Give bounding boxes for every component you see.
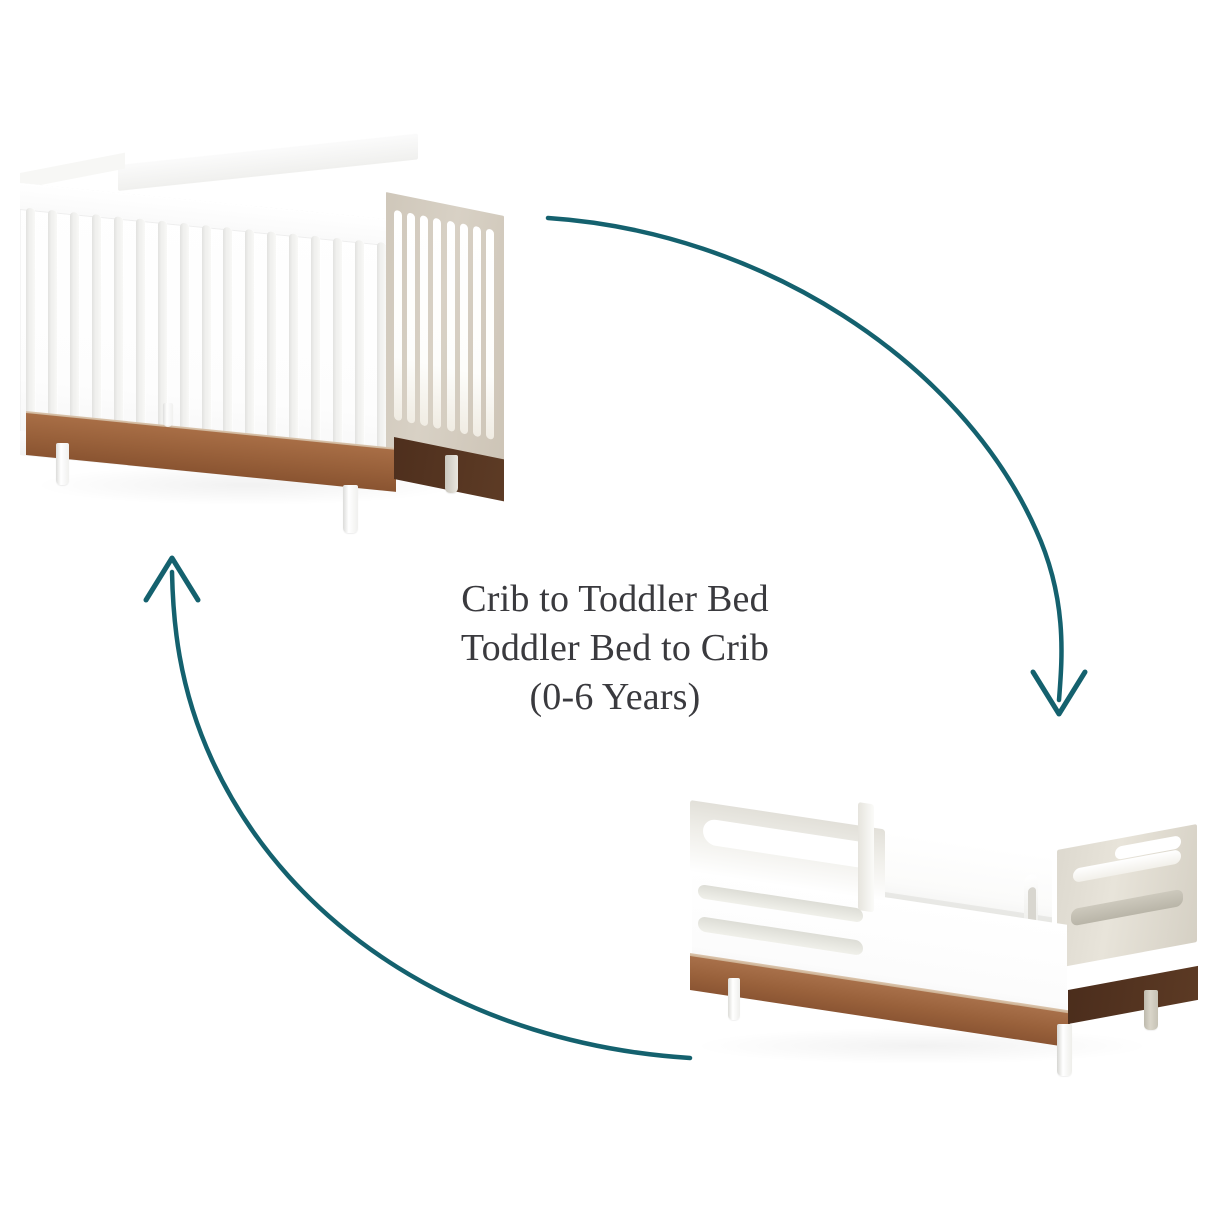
bed-wood-base-end [1068,966,1198,1024]
crib-end-slat [394,210,402,422]
crib-end-slat [473,226,481,438]
crib-leg-back-left [163,403,173,427]
crib-slat-gap [114,216,123,441]
crib-slat-gap [136,218,145,443]
caption-line-3: (0-6 Years) [330,673,900,722]
bed-end-panel [1057,824,1197,968]
crib-leg-front-right [343,485,358,533]
crib-slat-gap [26,208,35,433]
crib-slat-gap [245,229,254,454]
crib-end-panel [386,192,504,474]
crib-end-slat [486,228,494,440]
conversion-graphic: Crib to Toddler Bed Toddler Bed to Crib … [0,0,1221,1221]
crib-slat-gap [223,227,232,452]
crib-slat-gap [377,242,386,467]
crib-leg-front-left [56,443,69,485]
crib-slat-gap [92,214,101,439]
bed-guard-rail-post [858,802,874,912]
caption-line-2: Toddler Bed to Crib [330,624,900,673]
crib-slat-gap [70,212,79,437]
bed-leg-back-right [1144,990,1158,1030]
crib-end-slat [460,223,468,435]
caption-block: Crib to Toddler Bed Toddler Bed to Crib … [330,575,900,722]
bed-end-panel-slot-bottom [1071,889,1183,927]
toddler-bed-product-image [672,790,1217,1090]
crib-slat-gap [202,225,211,450]
crib-slat-gap [311,236,320,461]
crib-slat-gap [48,210,57,435]
crib-end-slat [433,218,441,430]
bed-floor-shadow [697,1028,1147,1064]
crib-back-top-rail-left [20,153,125,189]
crib-slat-gap [289,233,298,458]
crib-slat-gap [333,238,342,463]
crib-slat-gap [267,231,276,456]
crib-leg-back-right [445,455,458,493]
crib-end-slat [447,220,455,432]
crib-end-slat-group [394,210,494,440]
crib-slat-gap [180,223,189,448]
crib-back-top-rail [118,133,418,191]
caption-line-1: Crib to Toddler Bed [330,575,900,624]
crib-product-image [8,165,513,535]
crib-end-slat [420,215,428,427]
bed-leg-front-left [728,978,740,1020]
crib-slat-gap [355,240,364,465]
bed-leg-front-right [1057,1024,1072,1076]
crib-end-slat [407,212,415,424]
